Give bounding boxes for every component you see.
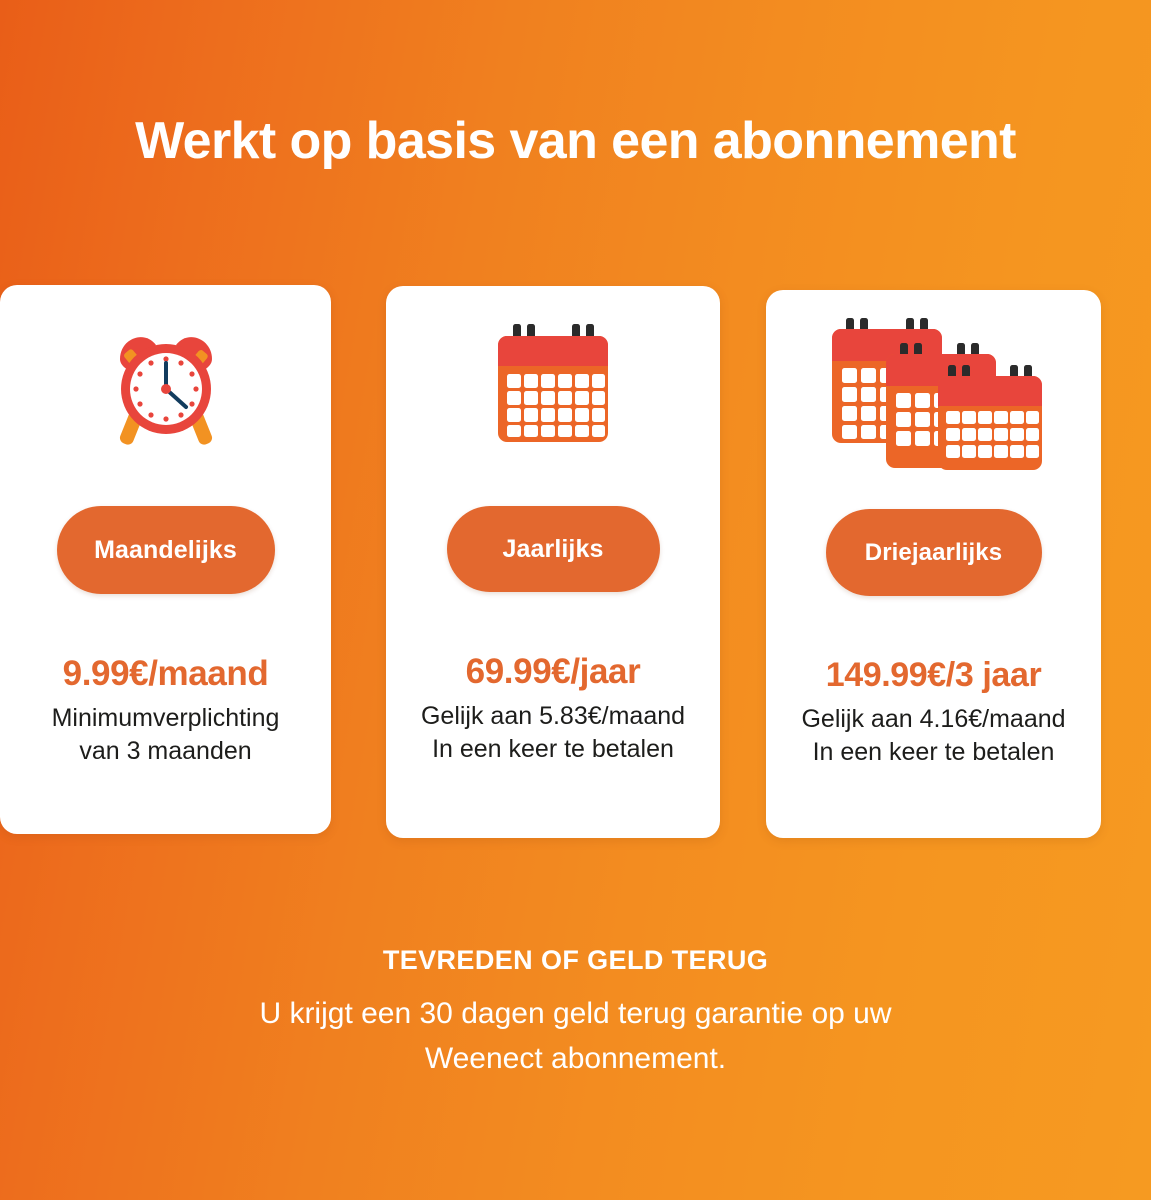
plan-card-monthly[interactable]: Maandelijks 9.99€/maand Minimumverplicht…: [0, 285, 331, 834]
guarantee-text-line: U krijgt een 30 dagen geld terug garanti…: [0, 991, 1151, 1036]
plan-description-line: In een keer te betalen: [421, 733, 685, 766]
plan-description-monthly: Minimumverplichting van 3 maanden: [34, 702, 298, 769]
plan-description-line: Minimumverplichting: [52, 702, 280, 735]
alarm-clock-icon: [0, 285, 331, 485]
plan-badge-triennial[interactable]: Driejaarlijks: [826, 509, 1042, 596]
plan-card-triennial[interactable]: Driejaarlijks 149.99€/3 jaar Gelijk aan …: [766, 290, 1101, 838]
guarantee-section: TEVREDEN OF GELD TERUG U krijgt een 30 d…: [0, 945, 1151, 1081]
plan-description-line: Gelijk aan 4.16€/maand: [801, 703, 1065, 736]
plan-badge-yearly[interactable]: Jaarlijks: [447, 506, 660, 592]
plan-description-yearly: Gelijk aan 5.83€/maand In een keer te be…: [411, 700, 695, 767]
calendar-stack-icon: [766, 290, 1101, 490]
plan-badge-monthly[interactable]: Maandelijks: [57, 506, 275, 594]
guarantee-text-line: Weenect abonnement.: [0, 1036, 1151, 1081]
guarantee-text: U krijgt een 30 dagen geld terug garanti…: [0, 991, 1151, 1081]
plan-card-yearly[interactable]: Jaarlijks 69.99€/jaar Gelijk aan 5.83€/m…: [386, 286, 720, 838]
calendar-icon: [386, 286, 720, 486]
plan-price-yearly: 69.99€/jaar: [466, 652, 641, 692]
plan-description-line: Gelijk aan 5.83€/maand: [421, 700, 685, 733]
plan-description-line: van 3 maanden: [52, 735, 280, 768]
plan-price-triennial: 149.99€/3 jaar: [826, 656, 1042, 695]
page-title: Werkt op basis van een abonnement: [0, 112, 1151, 172]
plan-description-triennial: Gelijk aan 4.16€/maand In een keer te be…: [791, 703, 1075, 770]
plan-description-line: In een keer te betalen: [801, 736, 1065, 769]
pricing-page: Werkt op basis van een abonnement: [0, 0, 1151, 1200]
plan-price-monthly: 9.99€/maand: [63, 654, 269, 694]
guarantee-title: TEVREDEN OF GELD TERUG: [0, 945, 1151, 976]
